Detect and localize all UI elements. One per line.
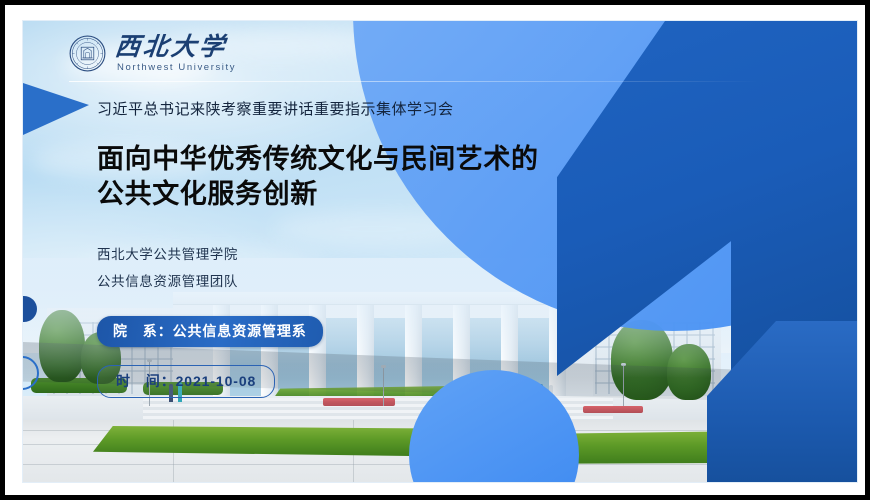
organization-line-2: 公共信息资源管理团队 — [97, 268, 617, 296]
university-seal-icon — [69, 35, 106, 72]
date-pill-row: 时 间：2021-10-08 — [97, 347, 617, 398]
organization-block: 西北大学公共管理学院 公共信息资源管理团队 — [97, 241, 617, 296]
slide-content: 习近平总书记来陕考察重要讲话重要指示集体学习会 面向中华优秀传统文化与民间艺术的… — [97, 99, 617, 398]
header-divider — [69, 81, 759, 82]
slide-subtitle: 习近平总书记来陕考察重要讲话重要指示集体学习会 — [97, 99, 617, 122]
logo-chinese-name: 西北大学 — [114, 35, 238, 60]
white-mat: 西北大学 Northwest University 习近平总书记来陕考察重要讲话… — [5, 5, 865, 495]
organization-line-1: 西北大学公共管理学院 — [97, 241, 617, 269]
presentation-slide: 西北大学 Northwest University 习近平总书记来陕考察重要讲话… — [22, 20, 858, 483]
logo-text-block: 西北大学 Northwest University — [115, 35, 236, 73]
department-pill: 院 系：公共信息资源管理系 — [97, 316, 323, 347]
image-frame: 西北大学 Northwest University 习近平总书记来陕考察重要讲话… — [0, 0, 870, 500]
university-logo: 西北大学 Northwest University — [69, 35, 236, 73]
logo-english-name: Northwest University — [117, 63, 236, 73]
date-pill: 时 间：2021-10-08 — [97, 365, 275, 398]
grass-strip — [93, 426, 423, 456]
red-banner — [583, 406, 643, 413]
slide-title-line-1: 面向中华优秀传统文化与民间艺术的 — [97, 142, 617, 178]
slide-title-line-2: 公共文化服务创新 — [97, 177, 617, 213]
department-pill-row: 院 系：公共信息资源管理系 — [97, 296, 617, 347]
slide-title: 面向中华优秀传统文化与民间艺术的 公共文化服务创新 — [97, 142, 617, 213]
red-banner — [323, 398, 395, 406]
blue-triangle-shape — [23, 83, 89, 135]
